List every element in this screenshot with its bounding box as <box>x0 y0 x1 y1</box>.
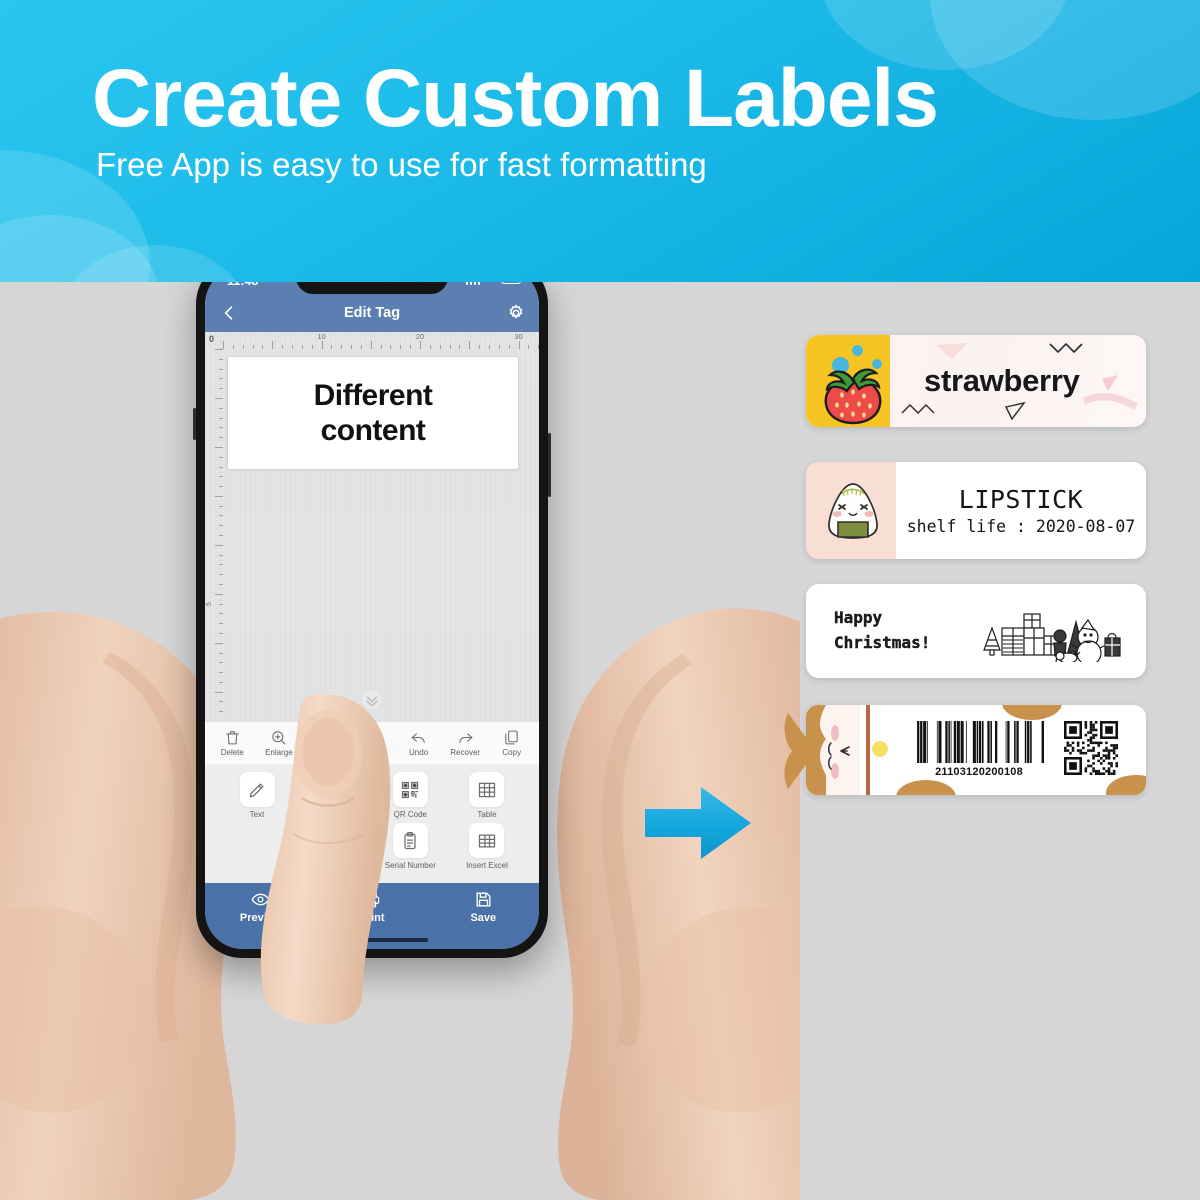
header-banner: Create Custom Labels Free App is easy to… <box>0 0 1200 282</box>
tool-grid-label: Table <box>477 810 496 819</box>
toolbar-item-label: Delete <box>221 748 244 757</box>
gear-icon[interactable] <box>506 303 526 323</box>
battery-icon <box>501 282 521 284</box>
strawberry-label-text: strawberry <box>924 363 1080 399</box>
lipstick-text-block: LIPSTICK shelf life : 2020-08-07 <box>896 462 1146 559</box>
phone-notch <box>296 282 448 294</box>
cat-face-illustration <box>782 709 862 793</box>
page-title: Edit Tag <box>205 305 539 321</box>
tool-grid-button[interactable] <box>469 823 504 858</box>
christmas-text-block: Happy Christmas! <box>834 606 930 656</box>
tool-grid-button[interactable] <box>469 772 504 807</box>
toolbar-item-label: Copy <box>502 748 521 757</box>
lipstick-shelf-life: shelf life : 2020-08-07 <box>907 517 1135 536</box>
network-type-label: 4G <box>483 282 498 285</box>
christmas-line2: Christmas! <box>834 631 930 656</box>
front-camera <box>417 282 424 283</box>
toolbar-item-copy[interactable]: Copy <box>488 729 535 757</box>
copy-icon <box>503 729 520 746</box>
spreadsheet-icon <box>477 831 497 851</box>
label-sample-strawberry: strawberry <box>806 335 1146 427</box>
toolbar-item-label: Recover <box>450 748 480 757</box>
status-time: 11:48 <box>227 282 258 288</box>
trash-icon <box>224 729 241 746</box>
label-text-line2: content <box>321 413 426 448</box>
status-indicators: 4G <box>466 282 521 285</box>
onigiri-character-illustration <box>824 480 882 542</box>
label-canvas-area[interactable]: 102030 5 0 Different content <box>205 332 539 721</box>
christmas-scene-illustration <box>972 602 1122 662</box>
lipstick-title: LIPSTICK <box>959 485 1083 514</box>
strawberry-illustration <box>818 365 888 425</box>
toolbar-item-recover[interactable]: Recover <box>442 729 489 757</box>
table-icon <box>477 780 497 800</box>
barcode-number: 21103120200108 <box>914 766 1044 778</box>
qr-code-graphic <box>1064 721 1118 775</box>
toolbar-item-delete[interactable]: Delete <box>209 729 256 757</box>
horizontal-ruler: 102030 <box>223 332 539 349</box>
barcode-graphic <box>914 721 1044 763</box>
label-design-card[interactable]: Different content <box>227 356 519 470</box>
blue-dot-decoration <box>852 345 863 356</box>
signal-bars-icon <box>466 282 481 285</box>
tool-grid-item-table[interactable]: Table <box>451 772 523 819</box>
app-nav-bar: Edit Tag <box>205 295 539 332</box>
banner-title: Create Custom Labels <box>92 58 938 140</box>
ruler-origin-label: 0 <box>209 334 214 344</box>
label-sample-christmas: Happy Christmas! <box>806 584 1146 678</box>
label-text-line1: Different <box>314 378 433 413</box>
banner-subtitle: Free App is easy to use for fast formatt… <box>96 146 707 184</box>
christmas-line1: Happy <box>834 606 930 631</box>
tool-grid-item-insert-excel[interactable]: Insert Excel <box>451 823 523 870</box>
label-samples-column: strawberry LIPSTICK shelf li <box>806 335 1146 795</box>
floppy-disk-icon <box>474 890 493 909</box>
tool-grid-label: Insert Excel <box>466 861 508 870</box>
label-sample-barcode: 21103120200108 <box>806 705 1146 795</box>
label-sample-lipstick: LIPSTICK shelf life : 2020-08-07 <box>806 462 1146 559</box>
arrow-right-icon <box>645 783 751 863</box>
vertical-ruler: 5 <box>205 349 223 721</box>
save-label: Save <box>470 912 496 924</box>
save-button[interactable]: Save <box>428 890 539 924</box>
pointing-index-finger <box>250 694 430 1024</box>
product-photo-stage: 11:48 4G Edit Tag 102030 5 0 Differe <box>0 282 1200 1200</box>
redo-arrow-icon <box>457 729 474 746</box>
